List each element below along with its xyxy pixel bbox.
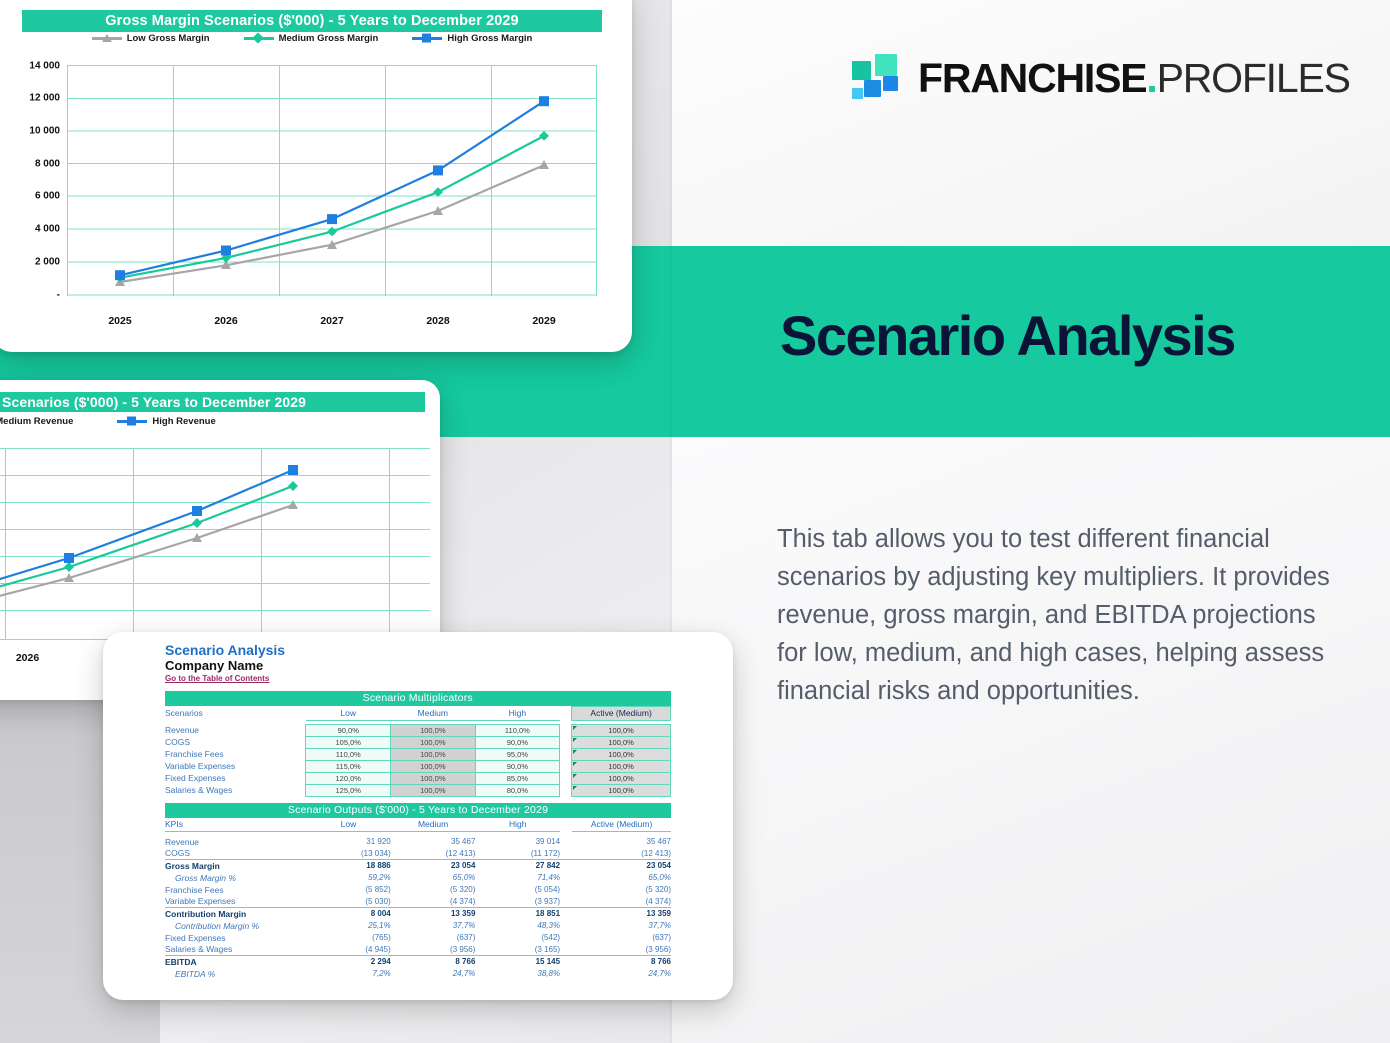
revenue-plot-area (0, 448, 430, 638)
kpi-medium: 37,7% (391, 920, 476, 932)
spacer-cell (560, 956, 572, 968)
background-plate-top-right (672, 0, 1390, 246)
row-label: Variable Expenses (165, 760, 306, 772)
kpi-row: Revenue 31 920 35 467 39 014 35 467 (165, 836, 671, 848)
kpi-row: COGS (13 034) (12 413) (11 172) (12 413) (165, 848, 671, 860)
x-tick-2028: 2028 (385, 315, 491, 327)
kpi-medium: 23 054 (391, 860, 476, 872)
kpi-low: 18 886 (306, 860, 391, 872)
cell-medium[interactable]: 100,0% (391, 772, 476, 784)
spacer-cell (560, 706, 572, 720)
spacer-cell (560, 772, 572, 784)
logo-wordmark: FRANCHISE.PROFILES (918, 58, 1350, 99)
kpi-high: (3 937) (475, 896, 560, 908)
spacer-cell (560, 818, 572, 832)
logo-mark-icon (852, 54, 900, 102)
legend-label-high-revenue: High Revenue (152, 416, 215, 427)
cell-active[interactable]: 100,0% (572, 736, 671, 748)
kpi-high: 39 014 (475, 836, 560, 848)
cell-low[interactable]: 110,0% (306, 748, 391, 760)
kpi-low: (5 030) (306, 896, 391, 908)
logo-dot: . (1146, 55, 1156, 101)
cell-medium[interactable]: 100,0% (391, 736, 476, 748)
kpi-low: (4 945) (306, 944, 391, 956)
multiplicators-col-low: Low (306, 706, 391, 720)
cell-high[interactable]: 95,0% (475, 748, 560, 760)
revenue-chart-title: Revenue Scenarios ($'000) - 5 Years to D… (0, 392, 425, 412)
kpi-active: 65,0% (572, 872, 671, 884)
kpi-row-pct: Contribution Margin % 25,1% 37,7% 48,3% … (165, 920, 671, 932)
legend-item-medium-revenue: Medium Revenue (0, 416, 73, 427)
kpi-low: (5 852) (306, 884, 391, 896)
kpi-label: Gross Margin % (165, 872, 306, 884)
kpi-medium: (12 413) (391, 848, 476, 860)
gross-margin-chart-title: Gross Margin Scenarios ($'000) - 5 Years… (22, 10, 602, 32)
page-title: Scenario Analysis (780, 308, 1380, 364)
row-label: COGS (165, 736, 306, 748)
kpi-low: (765) (306, 932, 391, 944)
kpi-high: (5 054) (475, 884, 560, 896)
kpi-label: Contribution Margin % (165, 920, 306, 932)
cell-low[interactable]: 90,0% (306, 724, 391, 736)
kpi-medium: (4 374) (391, 896, 476, 908)
spacer-cell (560, 932, 572, 944)
x-tick-2026: 2026 (0, 652, 85, 664)
cell-high[interactable]: 110,0% (475, 724, 560, 736)
cell-medium[interactable]: 100,0% (391, 748, 476, 760)
row-label: Franchise Fees (165, 748, 306, 760)
kpi-low: 7,2% (306, 968, 391, 980)
kpi-row: Variable Expenses (5 030) (4 374) (3 937… (165, 896, 671, 908)
multiplicator-row: COGS 105,0% 100,0% 90,0% 100,0% (165, 736, 671, 748)
kpi-high: (3 165) (475, 944, 560, 956)
cell-medium[interactable]: 100,0% (391, 724, 476, 736)
legend-item-medium-gross-margin: Medium Gross Margin (244, 33, 379, 44)
cell-high[interactable]: 90,0% (475, 736, 560, 748)
kpi-active: 8 766 (572, 956, 671, 968)
row-label: Salaries & Wages (165, 784, 306, 796)
multiplicator-row: Variable Expenses 115,0% 100,0% 90,0% 10… (165, 760, 671, 772)
cell-low[interactable]: 105,0% (306, 736, 391, 748)
spacer-cell (560, 884, 572, 896)
x-tick-2025: 2025 (67, 315, 173, 327)
outputs-col-high: High (475, 818, 560, 832)
outputs-header-row: KPIs Low Medium High Active (Medium) (165, 818, 671, 832)
kpi-label: Fixed Expenses (165, 932, 306, 944)
spacer-cell (560, 784, 572, 796)
multiplicators-col-medium: Medium (391, 706, 476, 720)
multiplicator-row: Salaries & Wages 125,0% 100,0% 80,0% 100… (165, 784, 671, 796)
cell-low[interactable]: 125,0% (306, 784, 391, 796)
kpi-low: 59,2% (306, 872, 391, 884)
multiplicator-row: Fixed Expenses 120,0% 100,0% 85,0% 100,0… (165, 772, 671, 784)
cell-high[interactable]: 80,0% (475, 784, 560, 796)
cell-high[interactable]: 85,0% (475, 772, 560, 784)
cell-low[interactable]: 120,0% (306, 772, 391, 784)
x-tick-2029: 2029 (491, 315, 597, 327)
spacer-cell (560, 836, 572, 848)
spacer-cell (560, 748, 572, 760)
kpi-label: COGS (165, 848, 306, 860)
logo-word-thin: PROFILES (1157, 55, 1350, 101)
multiplicators-row-header: Scenarios (165, 706, 306, 720)
spacer-cell (560, 920, 572, 932)
kpi-medium: 35 467 (391, 836, 476, 848)
outputs-row-header: KPIs (165, 818, 306, 832)
kpi-active: 35 467 (572, 836, 671, 848)
cell-active[interactable]: 100,0% (572, 784, 671, 796)
kpi-row-pct: Gross Margin % 59,2% 65,0% 71,4% 65,0% (165, 872, 671, 884)
kpi-active: (3 956) (572, 944, 671, 956)
cell-high[interactable]: 90,0% (475, 760, 560, 772)
table-of-contents-link[interactable]: Go to the Table of Contents (165, 673, 719, 684)
legend-label-low: Low Gross Margin (127, 33, 210, 44)
kpi-high: 71,4% (475, 872, 560, 884)
kpi-row: Salaries & Wages (4 945) (3 956) (3 165)… (165, 944, 671, 956)
multiplicators-band-title: Scenario Multiplicators (165, 691, 671, 706)
legend-label-medium: Medium Gross Margin (279, 33, 379, 44)
kpi-high: 38,8% (475, 968, 560, 980)
legend-line-medium-icon (244, 37, 274, 40)
kpi-active: (4 374) (572, 896, 671, 908)
kpi-row: Franchise Fees (5 852) (5 320) (5 054) (… (165, 884, 671, 896)
kpi-label: Revenue (165, 836, 306, 848)
kpi-active: 37,7% (572, 920, 671, 932)
kpi-row-total: EBITDA 2 294 8 766 15 145 8 766 (165, 956, 671, 968)
multiplicators-header-row: Scenarios Low Medium High Active (Medium… (165, 706, 671, 720)
kpi-high: 15 145 (475, 956, 560, 968)
spacer-cell (560, 760, 572, 772)
legend-item-high-gross-margin: High Gross Margin (412, 33, 532, 44)
legend-label-high: High Gross Margin (447, 33, 532, 44)
kpi-label: Salaries & Wages (165, 944, 306, 956)
spacer-cell (560, 908, 572, 920)
gross-margin-legend: Low Gross Margin Medium Gross Margin Hig… (22, 30, 602, 46)
kpi-active: 24,7% (572, 968, 671, 980)
cell-medium[interactable]: 100,0% (391, 760, 476, 772)
kpi-active: 23 054 (572, 860, 671, 872)
kpi-high: 27 842 (475, 860, 560, 872)
kpi-medium: (3 956) (391, 944, 476, 956)
sheet-company-name: Company Name (165, 658, 719, 673)
spacer-cell (560, 724, 572, 736)
legend-label-medium-revenue: Medium Revenue (0, 416, 73, 427)
kpi-label: EBITDA % (165, 968, 306, 980)
page-description: This tab allows you to test different fi… (777, 520, 1337, 710)
revenue-legend: Low Revenue Medium Revenue High Revenue (0, 413, 425, 429)
kpi-label: Franchise Fees (165, 884, 306, 896)
kpi-low: (13 034) (306, 848, 391, 860)
multiplicator-row: Revenue 90,0% 100,0% 110,0% 100,0% (165, 724, 671, 736)
kpi-label: Gross Margin (165, 860, 306, 872)
outputs-col-low: Low (306, 818, 391, 832)
multiplicators-col-active: Active (Medium) (572, 706, 671, 720)
legend-item-high-revenue: High Revenue (117, 416, 215, 427)
multiplicators-col-high: High (475, 706, 560, 720)
spacer-cell (560, 860, 572, 872)
kpi-label: Contribution Margin (165, 908, 306, 920)
gross-margin-y-axis: - 2 000 4 000 6 000 8 000 10 000 12 000 … (2, 65, 60, 295)
kpi-active: (637) (572, 932, 671, 944)
kpi-active: 13 359 (572, 908, 671, 920)
scenario-outputs-table: Scenario Outputs ($'000) - 5 Years to De… (165, 803, 671, 980)
kpi-medium: 65,0% (391, 872, 476, 884)
legend-line-high-icon (412, 37, 442, 40)
cell-medium[interactable]: 100,0% (391, 784, 476, 796)
kpi-low: 31 920 (306, 836, 391, 848)
kpi-row-pct: EBITDA % 7,2% 24,7% 38,8% 24,7% (165, 968, 671, 980)
sheet-heading: Scenario Analysis (165, 642, 719, 658)
cell-low[interactable]: 115,0% (306, 760, 391, 772)
kpi-medium: (637) (391, 932, 476, 944)
kpi-high: (542) (475, 932, 560, 944)
spacer-cell (560, 896, 572, 908)
logo-word-bold: FRANCHISE (918, 55, 1146, 101)
legend-item-low-gross-margin: Low Gross Margin (92, 33, 210, 44)
kpi-row: Fixed Expenses (765) (637) (542) (637) (165, 932, 671, 944)
kpi-low: 2 294 (306, 956, 391, 968)
multiplicators-band-row: Scenario Multiplicators (165, 691, 671, 706)
kpi-active: (12 413) (572, 848, 671, 860)
legend-line-high-revenue-icon (117, 420, 147, 423)
outputs-col-active: Active (Medium) (572, 818, 671, 832)
x-tick-2027: 2027 (279, 315, 385, 327)
gross-margin-chart-card: Gross Margin Scenarios ($'000) - 5 Years… (0, 0, 632, 352)
kpi-row-total: Contribution Margin 8 004 13 359 18 851 … (165, 908, 671, 920)
kpi-active: (5 320) (572, 884, 671, 896)
kpi-high: 48,3% (475, 920, 560, 932)
cell-active[interactable]: 100,0% (572, 748, 671, 760)
outputs-band-title: Scenario Outputs ($'000) - 5 Years to De… (165, 803, 671, 818)
row-label: Fixed Expenses (165, 772, 306, 784)
kpi-medium: 24,7% (391, 968, 476, 980)
x-tick-2026: 2026 (173, 315, 279, 327)
kpi-medium: (5 320) (391, 884, 476, 896)
franchise-profiles-logo: FRANCHISE.PROFILES (852, 48, 1352, 108)
kpi-high: (11 172) (475, 848, 560, 860)
cell-active[interactable]: 100,0% (572, 760, 671, 772)
spacer-cell (560, 968, 572, 980)
cell-active[interactable]: 100,0% (572, 724, 671, 736)
cell-active[interactable]: 100,0% (572, 772, 671, 784)
gross-margin-x-axis: 2025 2026 2027 2028 2029 (67, 315, 597, 327)
multiplicator-row: Franchise Fees 110,0% 100,0% 95,0% 100,0… (165, 748, 671, 760)
spacer-cell (560, 944, 572, 956)
scenario-multiplicators-table: Scenario Multiplicators Scenarios Low Me… (165, 691, 671, 797)
kpi-label: EBITDA (165, 956, 306, 968)
scenario-analysis-spreadsheet-card: Scenario Analysis Company Name Go to the… (103, 632, 733, 1000)
legend-line-low-icon (92, 37, 122, 40)
outputs-band-row: Scenario Outputs ($'000) - 5 Years to De… (165, 803, 671, 818)
spacer-cell (560, 872, 572, 884)
kpi-medium: 13 359 (391, 908, 476, 920)
kpi-label: Variable Expenses (165, 896, 306, 908)
spacer-cell (560, 736, 572, 748)
outputs-col-medium: Medium (391, 818, 476, 832)
kpi-low: 8 004 (306, 908, 391, 920)
kpi-low: 25,1% (306, 920, 391, 932)
row-label: Revenue (165, 724, 306, 736)
kpi-high: 18 851 (475, 908, 560, 920)
kpi-row-total: Gross Margin 18 886 23 054 27 842 23 054 (165, 860, 671, 872)
kpi-medium: 8 766 (391, 956, 476, 968)
gross-margin-plot-area (67, 65, 597, 295)
spacer-cell (560, 848, 572, 860)
